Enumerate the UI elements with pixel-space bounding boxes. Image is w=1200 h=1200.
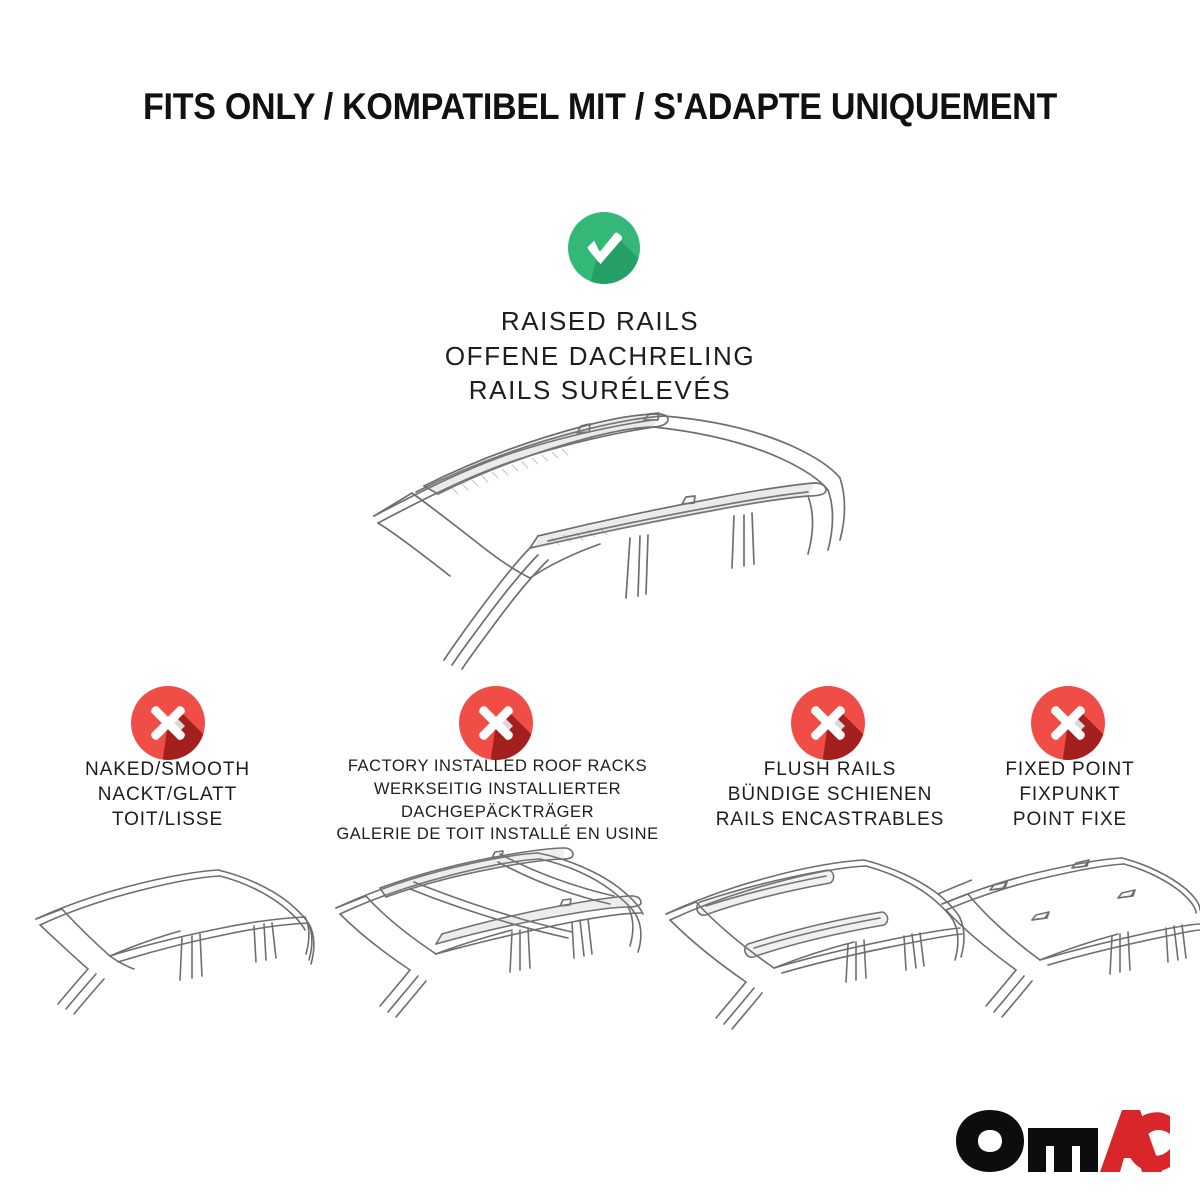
caption-line: DACHGEPÄCKTRÄGER <box>300 801 695 824</box>
caption-line: POINT FIXE <box>955 807 1185 832</box>
caption-line: BÜNDIGE SCHIENEN <box>685 782 975 807</box>
caption-line: RAISED RAILS <box>0 304 1200 339</box>
check-circle-icon <box>568 212 640 284</box>
caption-line: FIXPUNKT <box>955 782 1185 807</box>
incompatible-caption-2: FACTORY INSTALLED ROOF RACKS WERKSEITIG … <box>300 755 695 846</box>
caption-line: TOIT/LISSE <box>20 807 315 832</box>
x-circle-icon <box>1031 686 1105 760</box>
car-roof-flush-rails-illustration <box>652 852 972 1042</box>
x-circle-icon <box>791 686 865 760</box>
incompatible-caption-4: FIXED POINT FIXPUNKT POINT FIXE <box>955 757 1185 832</box>
incompatible-caption-1: NAKED/SMOOTH NACKT/GLATT TOIT/LISSE <box>20 757 315 832</box>
caption-line: OFFENE DACHRELING <box>0 339 1200 374</box>
car-roof-factory-roof-racks-illustration <box>322 842 667 1047</box>
fitment-info-graphic: FITS ONLY / KOMPATIBEL MIT / S'ADAPTE UN… <box>0 0 1200 1200</box>
caption-line: FLUSH RAILS <box>685 757 975 782</box>
caption-line: FACTORY INSTALLED ROOF RACKS <box>300 755 695 778</box>
compatible-caption: RAISED RAILS OFFENE DACHRELING RAILS SUR… <box>0 304 1200 408</box>
caption-line: RAILS ENCASTRABLES <box>685 807 975 832</box>
caption-line: RAILS SURÉLEVÉS <box>0 373 1200 408</box>
page-title: FITS ONLY / KOMPATIBEL MIT / S'ADAPTE UN… <box>48 86 1152 128</box>
omac-logo <box>954 1106 1172 1176</box>
car-roof-naked-smooth-illustration <box>22 862 322 1047</box>
caption-line: WERKSEITIG INSTALLIERTER <box>300 778 695 801</box>
caption-line: FIXED POINT <box>955 757 1185 782</box>
car-roof-fixed-point-illustration <box>932 852 1200 1042</box>
car-roof-raised-rails-illustration <box>352 408 852 678</box>
x-circle-icon <box>459 686 533 760</box>
caption-line: NACKT/GLATT <box>20 782 315 807</box>
incompatible-caption-3: FLUSH RAILS BÜNDIGE SCHIENEN RAILS ENCAS… <box>685 757 975 832</box>
x-circle-icon <box>131 686 205 760</box>
caption-line: NAKED/SMOOTH <box>20 757 315 782</box>
